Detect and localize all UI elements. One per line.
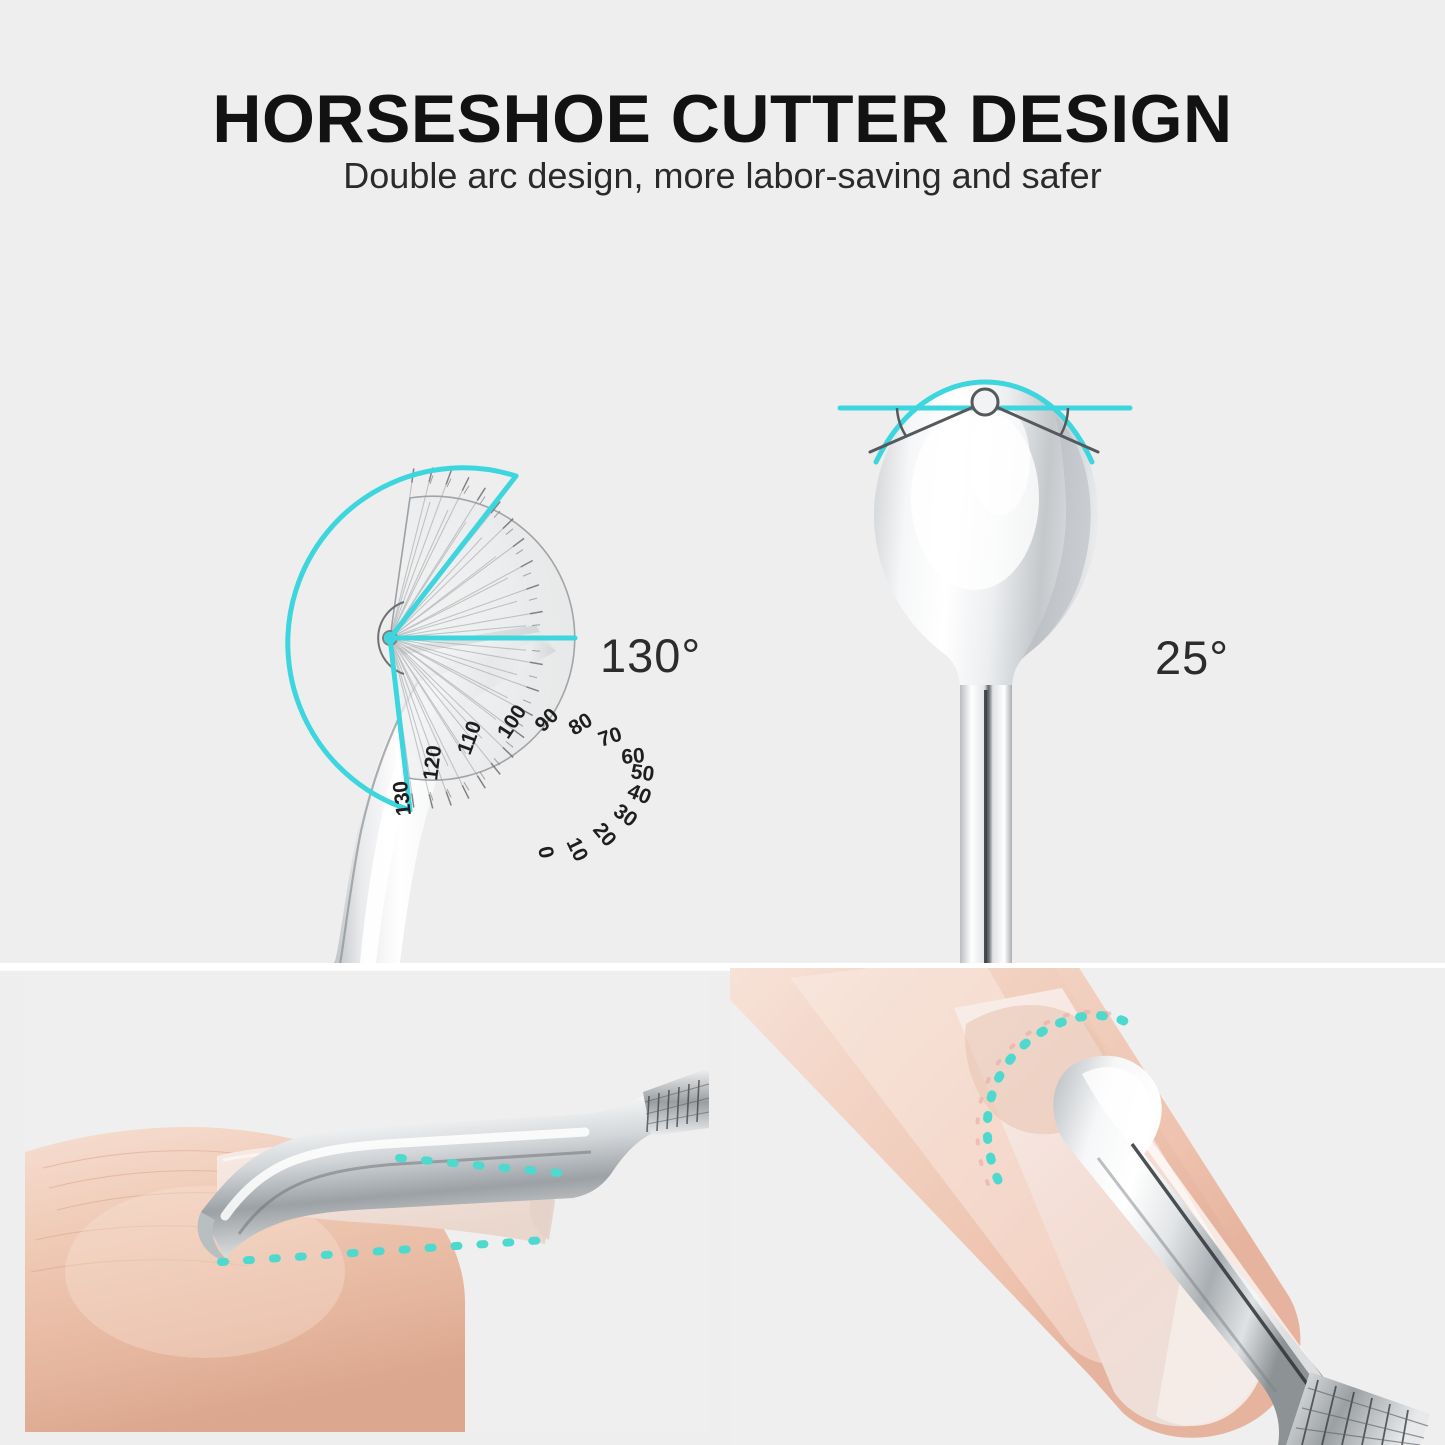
svg-text:130: 130 bbox=[389, 780, 416, 818]
svg-text:0: 0 bbox=[533, 844, 558, 860]
panel-concentrated-force: Concentrated force Pushes up dead skin e… bbox=[730, 968, 1445, 1445]
angle-label-25: 25° bbox=[1155, 630, 1229, 685]
angle-label-130: 130° bbox=[600, 628, 701, 683]
panel-parallel-nail-surface: Parallel nail surface Safe and non-injur… bbox=[25, 972, 710, 1432]
header: HORSESHOE CUTTER DESIGN Double arc desig… bbox=[0, 0, 1445, 230]
panel-right-illustration bbox=[730, 968, 1445, 1445]
hero-svg: 130 120 110 100 90 80 70 60 50 40 30 20 … bbox=[0, 230, 1445, 963]
page-title: HORSESHOE CUTTER DESIGN bbox=[0, 80, 1445, 158]
svg-text:10: 10 bbox=[562, 834, 593, 865]
svg-text:80: 80 bbox=[565, 709, 597, 741]
right-tool-body bbox=[874, 380, 1098, 963]
hero-illustration-area: 130 120 110 100 90 80 70 60 50 40 30 20 … bbox=[0, 230, 1445, 963]
infographic-page: HORSESHOE CUTTER DESIGN Double arc desig… bbox=[0, 0, 1445, 1445]
panel-left-illustration bbox=[25, 972, 710, 1432]
svg-text:120: 120 bbox=[419, 744, 446, 782]
svg-text:20: 20 bbox=[588, 818, 621, 851]
page-subtitle: Double arc design, more labor-saving and… bbox=[0, 155, 1445, 197]
